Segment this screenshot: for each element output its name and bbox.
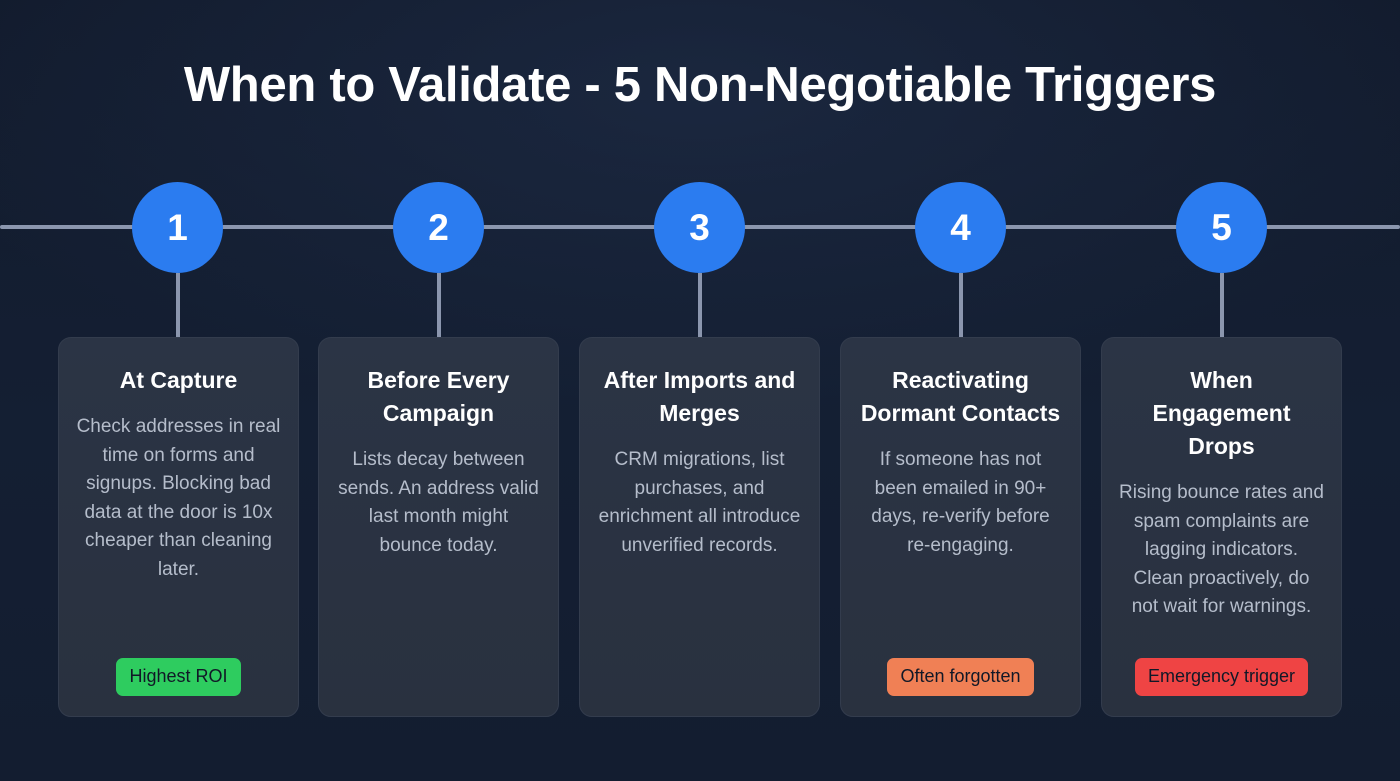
node-connector-4 — [959, 273, 963, 337]
trigger-card-badge: Often forgotten — [887, 658, 1033, 696]
node-connector-3 — [698, 273, 702, 337]
trigger-card-body: If someone has not been emailed in 90+ d… — [858, 446, 1063, 560]
timeline-node-4[interactable]: 4 — [915, 182, 1006, 273]
trigger-card-1[interactable]: At Capture Check addresses in real time … — [58, 337, 299, 717]
trigger-card-3[interactable]: After Imports and Merges CRM migrations,… — [579, 337, 820, 717]
timeline-node-number: 5 — [1211, 209, 1232, 246]
trigger-card-body: Rising bounce rates and spam complaints … — [1119, 479, 1324, 622]
node-connector-2 — [437, 273, 441, 337]
trigger-card-4[interactable]: Reactivating Dormant Contacts If someone… — [840, 337, 1081, 717]
timeline-node-2[interactable]: 2 — [393, 182, 484, 273]
trigger-card-title: At Capture — [76, 364, 281, 397]
timeline-node-3[interactable]: 3 — [654, 182, 745, 273]
page-title: When to Validate - 5 Non-Negotiable Trig… — [0, 58, 1400, 113]
trigger-card-5[interactable]: When Engagement Drops Rising bounce rate… — [1101, 337, 1342, 717]
timeline-node-number: 2 — [428, 209, 449, 246]
trigger-card-badge: Highest ROI — [116, 658, 240, 696]
trigger-card-2[interactable]: Before Every Campaign Lists decay betwee… — [318, 337, 559, 717]
trigger-card-body: Lists decay between sends. An address va… — [336, 446, 541, 560]
timeline-node-number: 3 — [689, 209, 710, 246]
timeline-node-5[interactable]: 5 — [1176, 182, 1267, 273]
timeline-node-1[interactable]: 1 — [132, 182, 223, 273]
trigger-card-title: When Engagement Drops — [1119, 364, 1324, 463]
timeline-node-number: 4 — [950, 209, 971, 246]
trigger-card-badge: Emergency trigger — [1135, 658, 1308, 696]
trigger-card-body: CRM migrations, list purchases, and enri… — [597, 446, 802, 560]
trigger-card-title: Reactivating Dormant Contacts — [858, 364, 1063, 430]
infographic-canvas: When to Validate - 5 Non-Negotiable Trig… — [0, 0, 1400, 781]
trigger-card-body: Check addresses in real time on forms an… — [76, 413, 281, 584]
node-connector-5 — [1220, 273, 1224, 337]
trigger-card-title: After Imports and Merges — [597, 364, 802, 430]
timeline-node-number: 1 — [167, 209, 188, 246]
trigger-card-title: Before Every Campaign — [336, 364, 541, 430]
node-connector-1 — [176, 273, 180, 337]
